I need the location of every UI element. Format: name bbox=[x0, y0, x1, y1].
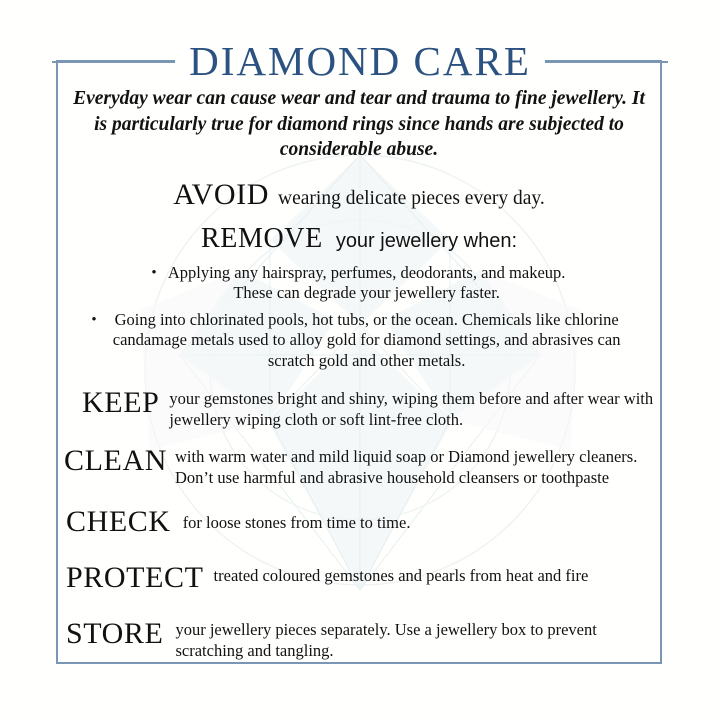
page-title: DIAMOND CARE bbox=[175, 38, 545, 84]
keep-keyword: KEEP bbox=[82, 388, 159, 418]
avoid-row: AVOID wearing delicate pieces every day. bbox=[64, 178, 654, 212]
keep-row: KEEP your gemstones bright and shiny, wi… bbox=[64, 388, 654, 430]
list-item-text: Going into chlorinated pools, hot tubs, … bbox=[107, 310, 627, 372]
title-rule-left bbox=[52, 61, 175, 63]
poster-content: Everyday wear can cause wear and tear an… bbox=[56, 86, 662, 661]
diamond-care-poster: DIAMOND CARE Everyday wear can cause wea… bbox=[0, 0, 720, 720]
bullet-dot-icon: • bbox=[91, 310, 96, 331]
check-keyword: CHECK bbox=[66, 507, 171, 537]
store-keyword: STORE bbox=[66, 619, 163, 649]
remove-keyword: REMOVE bbox=[201, 223, 323, 255]
protect-row: PROTECT treated coloured gemstones and p… bbox=[64, 563, 654, 593]
title-band: DIAMOND CARE bbox=[52, 38, 668, 84]
remove-row: REMOVE your jewellery when: bbox=[64, 223, 654, 255]
protect-keyword: PROTECT bbox=[66, 563, 204, 593]
clean-keyword: CLEAN bbox=[64, 446, 167, 476]
remove-text: your jewellery when: bbox=[336, 230, 517, 253]
check-text: for loose stones from time to time. bbox=[183, 513, 654, 534]
list-item-text: Applying any hairspray, perfumes, deodor… bbox=[167, 263, 567, 304]
bullet-dot-icon: • bbox=[151, 263, 156, 284]
store-text: your jewellery pieces separately. Use a … bbox=[175, 620, 654, 661]
list-item: • Applying any hairspray, perfumes, deod… bbox=[64, 263, 654, 304]
keep-text: your gemstones bright and shiny, wiping … bbox=[169, 389, 654, 430]
clean-text: with warm water and mild liquid soap or … bbox=[175, 447, 654, 488]
clean-row: CLEAN with warm water and mild liquid so… bbox=[64, 446, 654, 488]
list-item: • Going into chlorinated pools, hot tubs… bbox=[64, 310, 654, 372]
protect-text: treated coloured gemstones and pearls fr… bbox=[214, 566, 654, 587]
avoid-keyword: AVOID bbox=[173, 178, 269, 212]
title-rule-right bbox=[545, 61, 668, 63]
check-row: CHECK for loose stones from time to time… bbox=[64, 507, 654, 537]
intro-paragraph: Everyday wear can cause wear and tear an… bbox=[68, 86, 650, 163]
store-row: STORE your jewellery pieces separately. … bbox=[64, 619, 654, 661]
avoid-text: wearing delicate pieces every day. bbox=[278, 188, 545, 210]
remove-bullet-list: • Applying any hairspray, perfumes, deod… bbox=[64, 263, 654, 372]
